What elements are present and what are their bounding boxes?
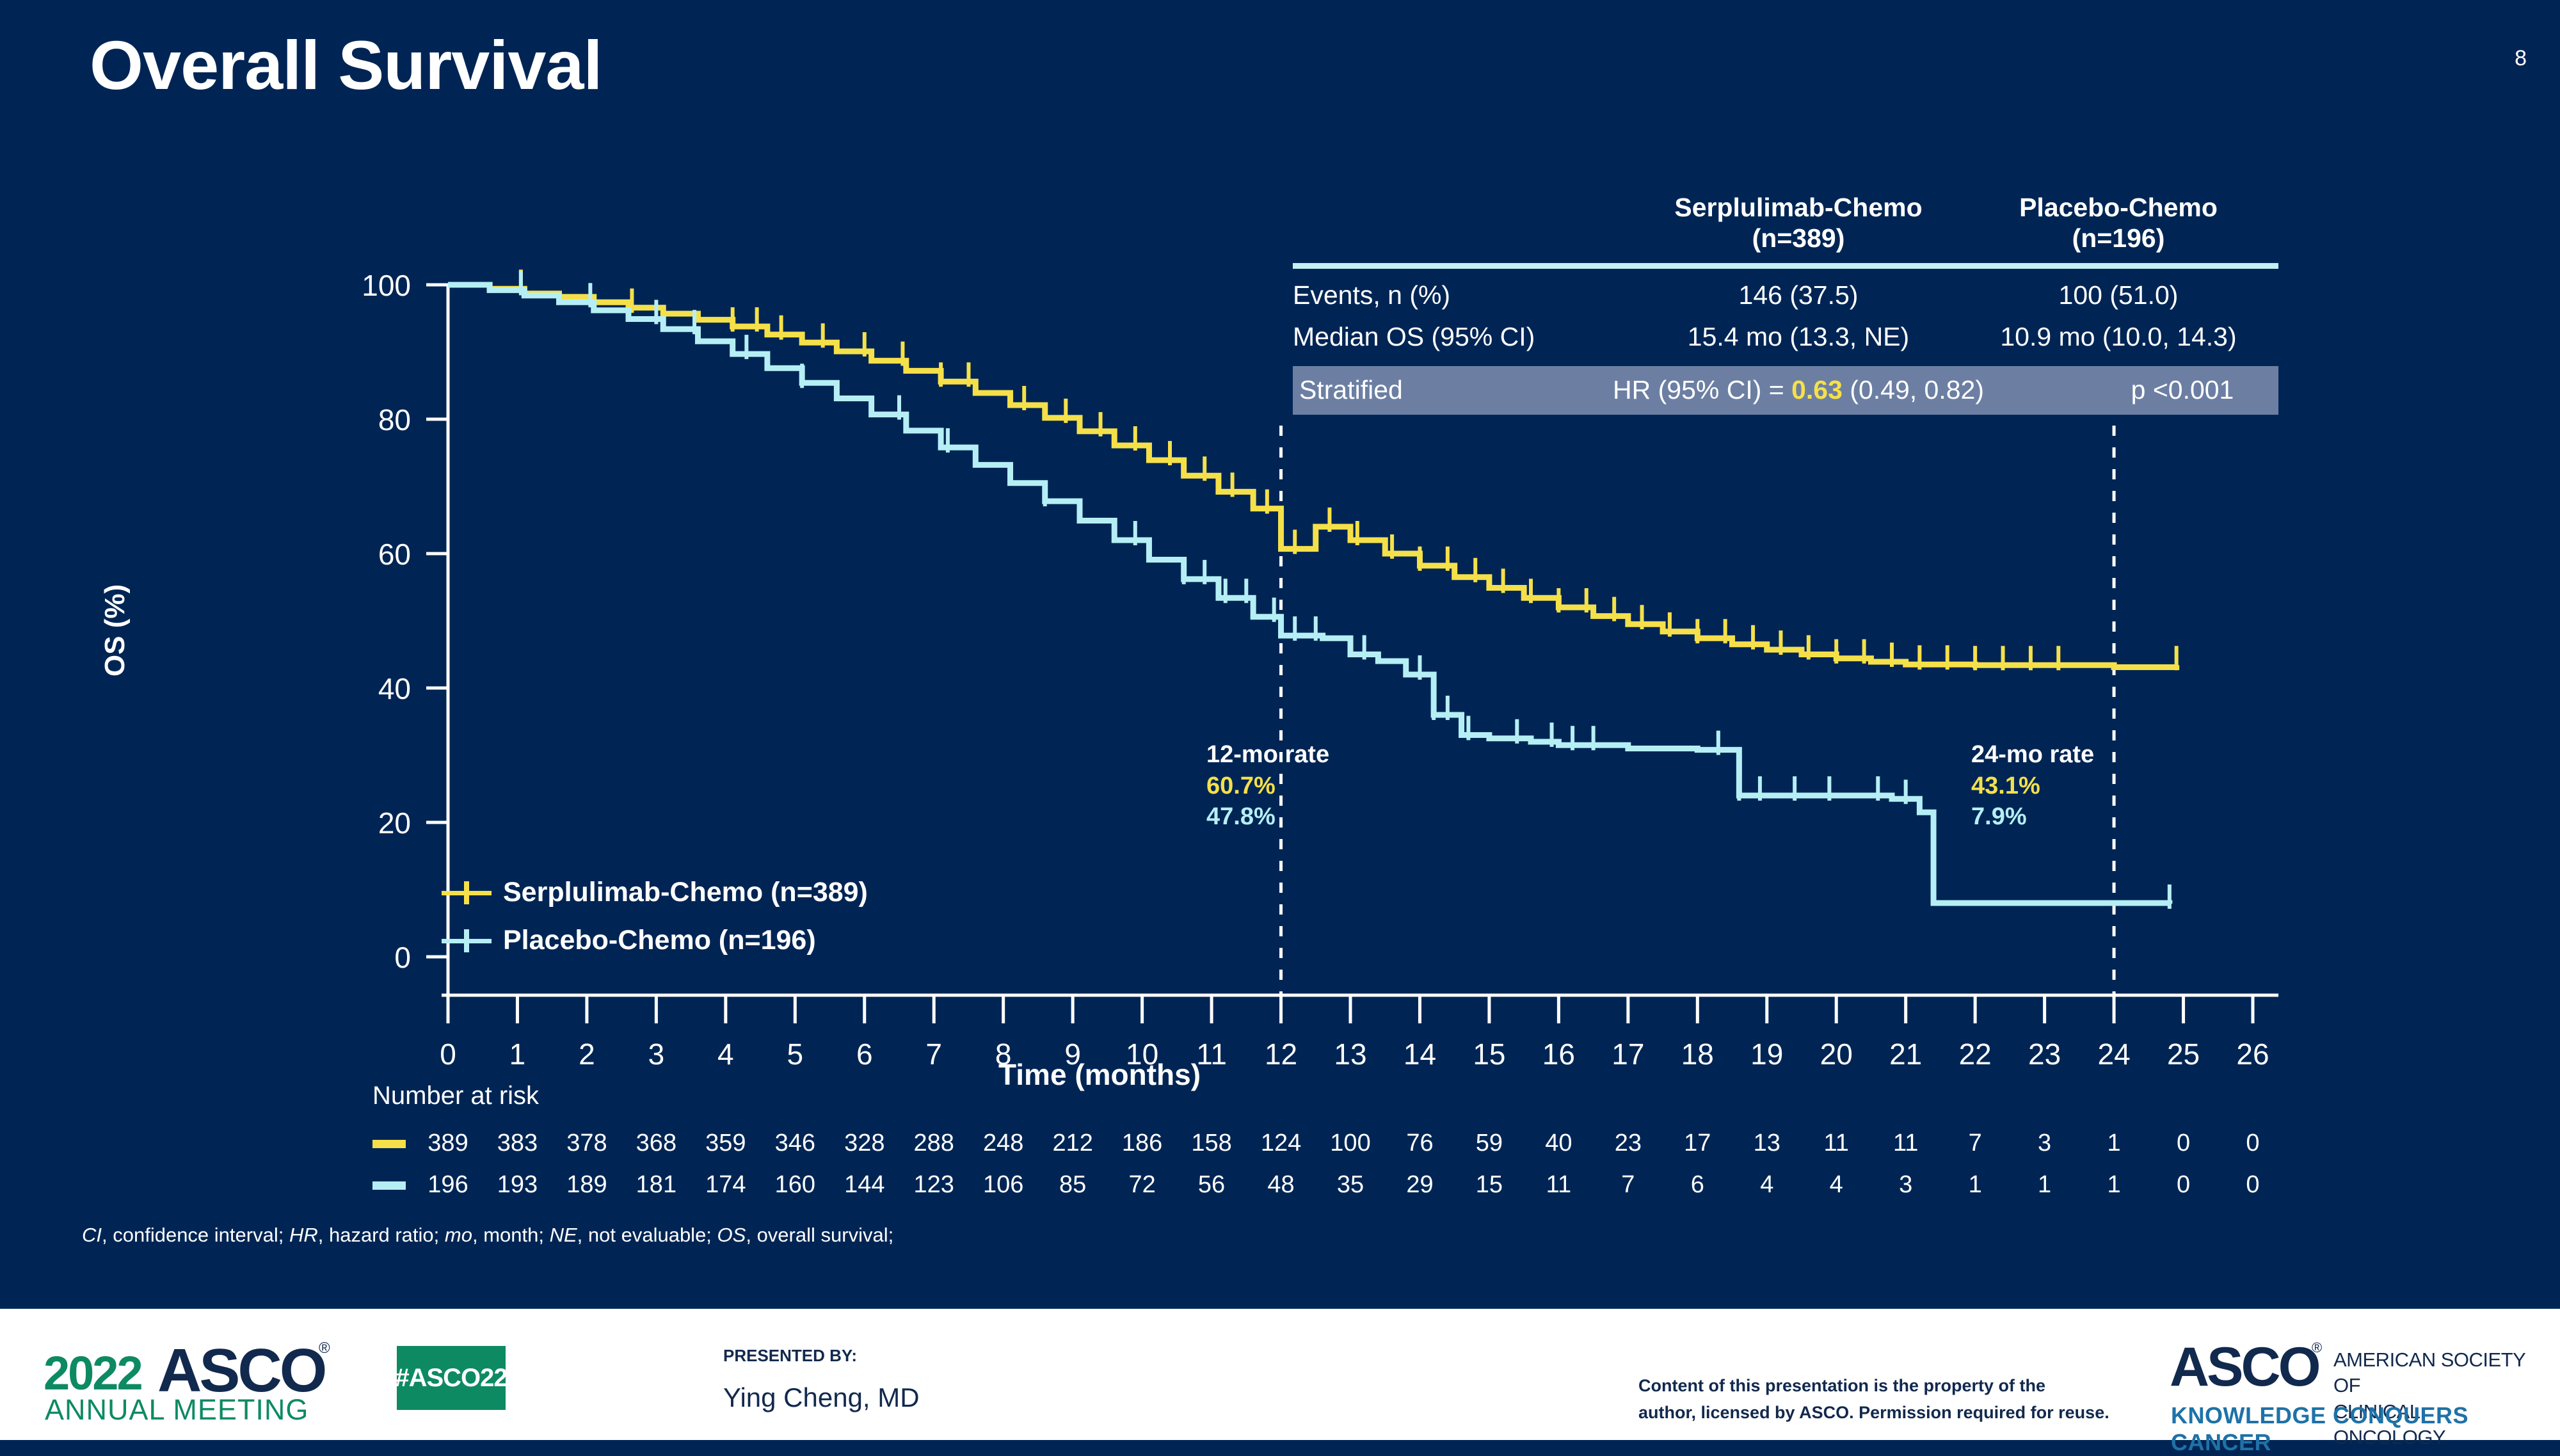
x-tick-label: 26 — [2236, 1037, 2269, 1071]
number-at-risk-cell-serplulimab: 368 — [636, 1130, 676, 1157]
number-at-risk-cell-placebo: 160 — [775, 1171, 815, 1199]
stats-hazard-ratio: HR (95% CI) = 0.63 (0.49, 0.82) — [1510, 375, 2086, 405]
footnote: CI, confidence interval; HR, hazard rati… — [82, 1224, 893, 1247]
stats-p-value: p <0.001 — [2086, 375, 2278, 405]
x-tick-label: 23 — [2028, 1037, 2061, 1071]
stats-stratified-label: Stratified — [1293, 375, 1510, 405]
footnote-part-0: CI — [82, 1224, 102, 1246]
number-at-risk-cell-placebo: 144 — [844, 1171, 884, 1199]
number-at-risk-cell-placebo: 6 — [1691, 1171, 1704, 1199]
x-tick-label: 2 — [579, 1037, 595, 1071]
number-at-risk-cell-placebo: 48 — [1267, 1171, 1294, 1199]
legend-marker-placebo-icon — [442, 929, 492, 952]
number-at-risk-cell-serplulimab: 3 — [2038, 1130, 2051, 1157]
legend-label-serplulimab: Serplulimab-Chemo (n=389) — [503, 877, 868, 908]
x-tick-label: 7 — [925, 1037, 942, 1071]
number-at-risk-cell-placebo: 174 — [705, 1171, 746, 1199]
legend-marker-serplulimab-icon — [442, 881, 492, 904]
number-at-risk-cell-placebo: 0 — [2177, 1171, 2190, 1199]
number-at-risk-cell-placebo: 193 — [497, 1171, 538, 1199]
logo-year: 2022 — [44, 1346, 141, 1400]
x-tick-label: 11 — [1196, 1037, 1227, 1071]
number-at-risk-cell-serplulimab: 389 — [428, 1130, 468, 1157]
x-tick-label: 16 — [1542, 1037, 1575, 1071]
legend-item-serplulimab: Serplulimab-Chemo (n=389) — [442, 877, 868, 908]
x-tick-label: 1 — [509, 1037, 526, 1071]
stats-row-events-placebo: 100 (51.0) — [1958, 280, 2278, 310]
x-tick-label: 25 — [2167, 1037, 2200, 1071]
number-at-risk-cell-placebo: 56 — [1198, 1171, 1225, 1199]
number-at-risk-cell-placebo: 1 — [1969, 1171, 1982, 1199]
number-at-risk-cell-placebo: 15 — [1476, 1171, 1503, 1199]
x-tick-label: 24 — [2097, 1037, 2130, 1071]
presented-by-label: PRESENTED BY: — [723, 1346, 920, 1366]
stats-row-events: Events, n (%) 146 (37.5) 100 (51.0) — [1293, 280, 2278, 310]
footnote-part-2: HR — [289, 1224, 318, 1246]
y-tick-label: 40 — [378, 672, 411, 705]
number-at-risk-cell-serplulimab: 76 — [1406, 1130, 1433, 1157]
footnote-part-7: , not evaluable; — [577, 1224, 717, 1246]
y-tick-label: 100 — [362, 269, 411, 302]
x-tick-label: 4 — [717, 1037, 734, 1071]
x-tick-label: 20 — [1820, 1037, 1853, 1071]
number-at-risk-cell-serplulimab: 40 — [1545, 1130, 1572, 1157]
number-at-risk-cell-placebo: 181 — [636, 1171, 676, 1199]
x-tick-label: 17 — [1612, 1037, 1644, 1071]
annotation-24-month-placebo: 7.9% — [1971, 801, 2094, 833]
number-at-risk-cell-serplulimab: 378 — [566, 1130, 607, 1157]
stats-row-median-os-label: Median OS (95% CI) — [1293, 322, 1638, 352]
number-at-risk-cell-serplulimab: 23 — [1615, 1130, 1642, 1157]
annotation-12-month-placebo: 47.8% — [1206, 801, 1329, 833]
number-at-risk-cell-serplulimab: 328 — [844, 1130, 884, 1157]
asco-right-wordmark: ASCO — [2170, 1336, 2318, 1399]
annotation-12-month: 12-mo rate 60.7% 47.8% — [1206, 739, 1329, 833]
number-at-risk-cell-placebo: 35 — [1337, 1171, 1364, 1199]
number-at-risk-cell-serplulimab: 13 — [1754, 1130, 1780, 1157]
number-at-risk-cell-serplulimab: 11 — [1893, 1130, 1918, 1157]
x-tick-label: 12 — [1265, 1037, 1297, 1071]
number-at-risk-cell-serplulimab: 0 — [2246, 1130, 2259, 1157]
annotation-12-month-serplulimab: 60.7% — [1206, 771, 1329, 802]
presenter-name: Ying Cheng, MD — [723, 1382, 920, 1413]
number-at-risk-cell-serplulimab: 346 — [775, 1130, 815, 1157]
number-at-risk-row-serplulimab: 3893833783683593463282882482121861581241… — [372, 1130, 2292, 1158]
footnote-part-9: , overall survival; — [746, 1224, 893, 1246]
annotation-24-month-serplulimab: 43.1% — [1971, 771, 2094, 802]
number-at-risk-cell-serplulimab: 158 — [1191, 1130, 1231, 1157]
statistics-table: Serplulimab-Chemo (n=389) Placebo-Chemo … — [1293, 192, 2278, 415]
stats-table-rule — [1293, 263, 2278, 269]
hr-ci: (0.49, 0.82) — [1843, 375, 1984, 404]
number-at-risk-cell-placebo: 29 — [1406, 1171, 1433, 1199]
footnote-part-8: OS — [717, 1224, 746, 1246]
number-at-risk-cell-serplulimab: 7 — [1969, 1130, 1982, 1157]
asco-society-line-1: AMERICAN SOCIETY OF — [2333, 1348, 2525, 1396]
number-at-risk-key-placebo-icon — [372, 1181, 406, 1190]
number-at-risk-cell-serplulimab: 0 — [2177, 1130, 2190, 1157]
number-at-risk-row-placebo: 1961931891811741601441231068572564835291… — [372, 1171, 2292, 1199]
number-at-risk-cell-placebo: 4 — [1830, 1171, 1843, 1199]
copyright-line-1: Content of this presentation is the prop… — [1638, 1373, 2138, 1400]
stats-table-header: Serplulimab-Chemo (n=389) Placebo-Chemo … — [1293, 192, 2278, 254]
number-at-risk-cell-serplulimab: 186 — [1122, 1130, 1162, 1157]
footnote-part-5: , month; — [472, 1224, 550, 1246]
y-tick-label: 60 — [378, 538, 411, 571]
chart-legend: Serplulimab-Chemo (n=389) Placebo-Chemo … — [442, 877, 868, 973]
legend-item-placebo: Placebo-Chemo (n=196) — [442, 925, 868, 956]
number-at-risk-cell-placebo: 189 — [566, 1171, 607, 1199]
number-at-risk-cell-placebo: 7 — [1621, 1171, 1635, 1199]
number-at-risk-cell-serplulimab: 288 — [914, 1130, 954, 1157]
number-at-risk-cell-placebo: 123 — [914, 1171, 954, 1199]
stats-row-median-os-placebo: 10.9 mo (10.0, 14.3) — [1958, 322, 2278, 352]
x-tick-label: 6 — [856, 1037, 873, 1071]
presented-by-block: PRESENTED BY: Ying Cheng, MD — [723, 1346, 920, 1413]
hr-value: 0.63 — [1791, 375, 1843, 404]
stats-row-median-os-serplulimab: 15.4 mo (13.3, NE) — [1638, 322, 1958, 352]
x-tick-label: 19 — [1750, 1037, 1783, 1071]
annotation-24-month-title: 24-mo rate — [1971, 739, 2094, 771]
number-at-risk-cell-serplulimab: 124 — [1261, 1130, 1301, 1157]
slide-footer: 2022 ASCO ® ANNUAL MEETING #ASCO22 PRESE… — [0, 1309, 2560, 1440]
hr-prefix: HR (95% CI) = — [1613, 375, 1791, 404]
stats-row-events-serplulimab: 146 (37.5) — [1638, 280, 1958, 310]
stats-header-serplulimab: Serplulimab-Chemo (n=389) — [1638, 192, 1958, 254]
x-tick-label: 22 — [1959, 1037, 1992, 1071]
number-at-risk-cell-placebo: 4 — [1760, 1171, 1773, 1199]
number-at-risk-cell-placebo: 196 — [428, 1171, 468, 1199]
number-at-risk-cell-placebo: 0 — [2246, 1171, 2259, 1199]
x-tick-label: 18 — [1681, 1037, 1714, 1071]
stats-row-events-label: Events, n (%) — [1293, 280, 1638, 310]
number-at-risk-title: Number at risk — [372, 1082, 539, 1110]
copyright-line-2: author, licensed by ASCO. Permission req… — [1638, 1400, 2138, 1427]
number-at-risk-cell-serplulimab: 100 — [1330, 1130, 1370, 1157]
number-at-risk-cell-placebo: 85 — [1059, 1171, 1086, 1199]
footnote-part-1: , confidence interval; — [102, 1224, 289, 1246]
footnote-part-4: mo — [445, 1224, 472, 1246]
x-tick-label: 15 — [1473, 1037, 1505, 1071]
legend-label-placebo: Placebo-Chemo (n=196) — [503, 925, 816, 956]
footnote-part-3: , hazard ratio; — [318, 1224, 445, 1246]
x-tick-label: 21 — [1889, 1037, 1922, 1071]
y-tick-label: 20 — [378, 806, 411, 840]
number-at-risk-cell-serplulimab: 248 — [983, 1130, 1023, 1157]
stats-row-median-os: Median OS (95% CI) 15.4 mo (13.3, NE) 10… — [1293, 322, 2278, 352]
number-at-risk-cell-serplulimab: 17 — [1684, 1130, 1711, 1157]
x-tick-label: 0 — [440, 1037, 456, 1071]
asco-society-logo: ASCO ® AMERICAN SOCIETY OF CLINICAL ONCO… — [2170, 1336, 2528, 1419]
number-at-risk-cell-placebo: 11 — [1546, 1171, 1571, 1199]
y-axis-title: OS (%) — [99, 496, 131, 765]
number-at-risk-cell-serplulimab: 1 — [2107, 1130, 2120, 1157]
hashtag-badge: #ASCO22 — [397, 1346, 506, 1410]
asco-annual-meeting-logo: 2022 ASCO ® ANNUAL MEETING — [44, 1334, 344, 1418]
asco-right-registered-icon: ® — [2312, 1340, 2322, 1356]
x-tick-label: 14 — [1404, 1037, 1436, 1071]
y-tick-label: 0 — [394, 941, 411, 974]
copyright-notice: Content of this presentation is the prop… — [1638, 1373, 2138, 1427]
number-at-risk-cell-placebo: 1 — [2107, 1171, 2120, 1199]
annotation-12-month-title: 12-mo rate — [1206, 739, 1329, 771]
number-at-risk-cell-serplulimab: 59 — [1476, 1130, 1503, 1157]
x-axis-title: Time (months) — [998, 1057, 1201, 1092]
number-at-risk-cell-placebo: 72 — [1128, 1171, 1155, 1199]
stats-header-placebo: Placebo-Chemo (n=196) — [1958, 192, 2278, 254]
stats-row-stratified: Stratified HR (95% CI) = 0.63 (0.49, 0.8… — [1293, 366, 2278, 415]
number-at-risk-cell-serplulimab: 383 — [497, 1130, 538, 1157]
number-at-risk-cell-serplulimab: 11 — [1823, 1130, 1848, 1157]
x-tick-label: 13 — [1334, 1037, 1366, 1071]
number-at-risk-cell-placebo: 106 — [983, 1171, 1023, 1199]
x-tick-label: 5 — [787, 1037, 804, 1071]
number-at-risk-cell-serplulimab: 359 — [705, 1130, 746, 1157]
y-tick-label: 80 — [378, 403, 411, 436]
logo-annual-meeting: ANNUAL MEETING — [45, 1393, 308, 1427]
x-tick-label: 3 — [648, 1037, 665, 1071]
annotation-24-month: 24-mo rate 43.1% 7.9% — [1971, 739, 2094, 833]
number-at-risk-cell-placebo: 1 — [2038, 1171, 2051, 1199]
number-at-risk-key-serplulimab-icon — [372, 1140, 406, 1148]
number-at-risk-cell-serplulimab: 212 — [1052, 1130, 1092, 1157]
number-at-risk-cell-placebo: 3 — [1899, 1171, 1912, 1199]
asco-tagline: KNOWLEDGE CONQUERS CANCER — [2171, 1402, 2528, 1456]
footnote-part-6: NE — [550, 1224, 577, 1246]
logo-registered-icon: ® — [319, 1340, 330, 1357]
